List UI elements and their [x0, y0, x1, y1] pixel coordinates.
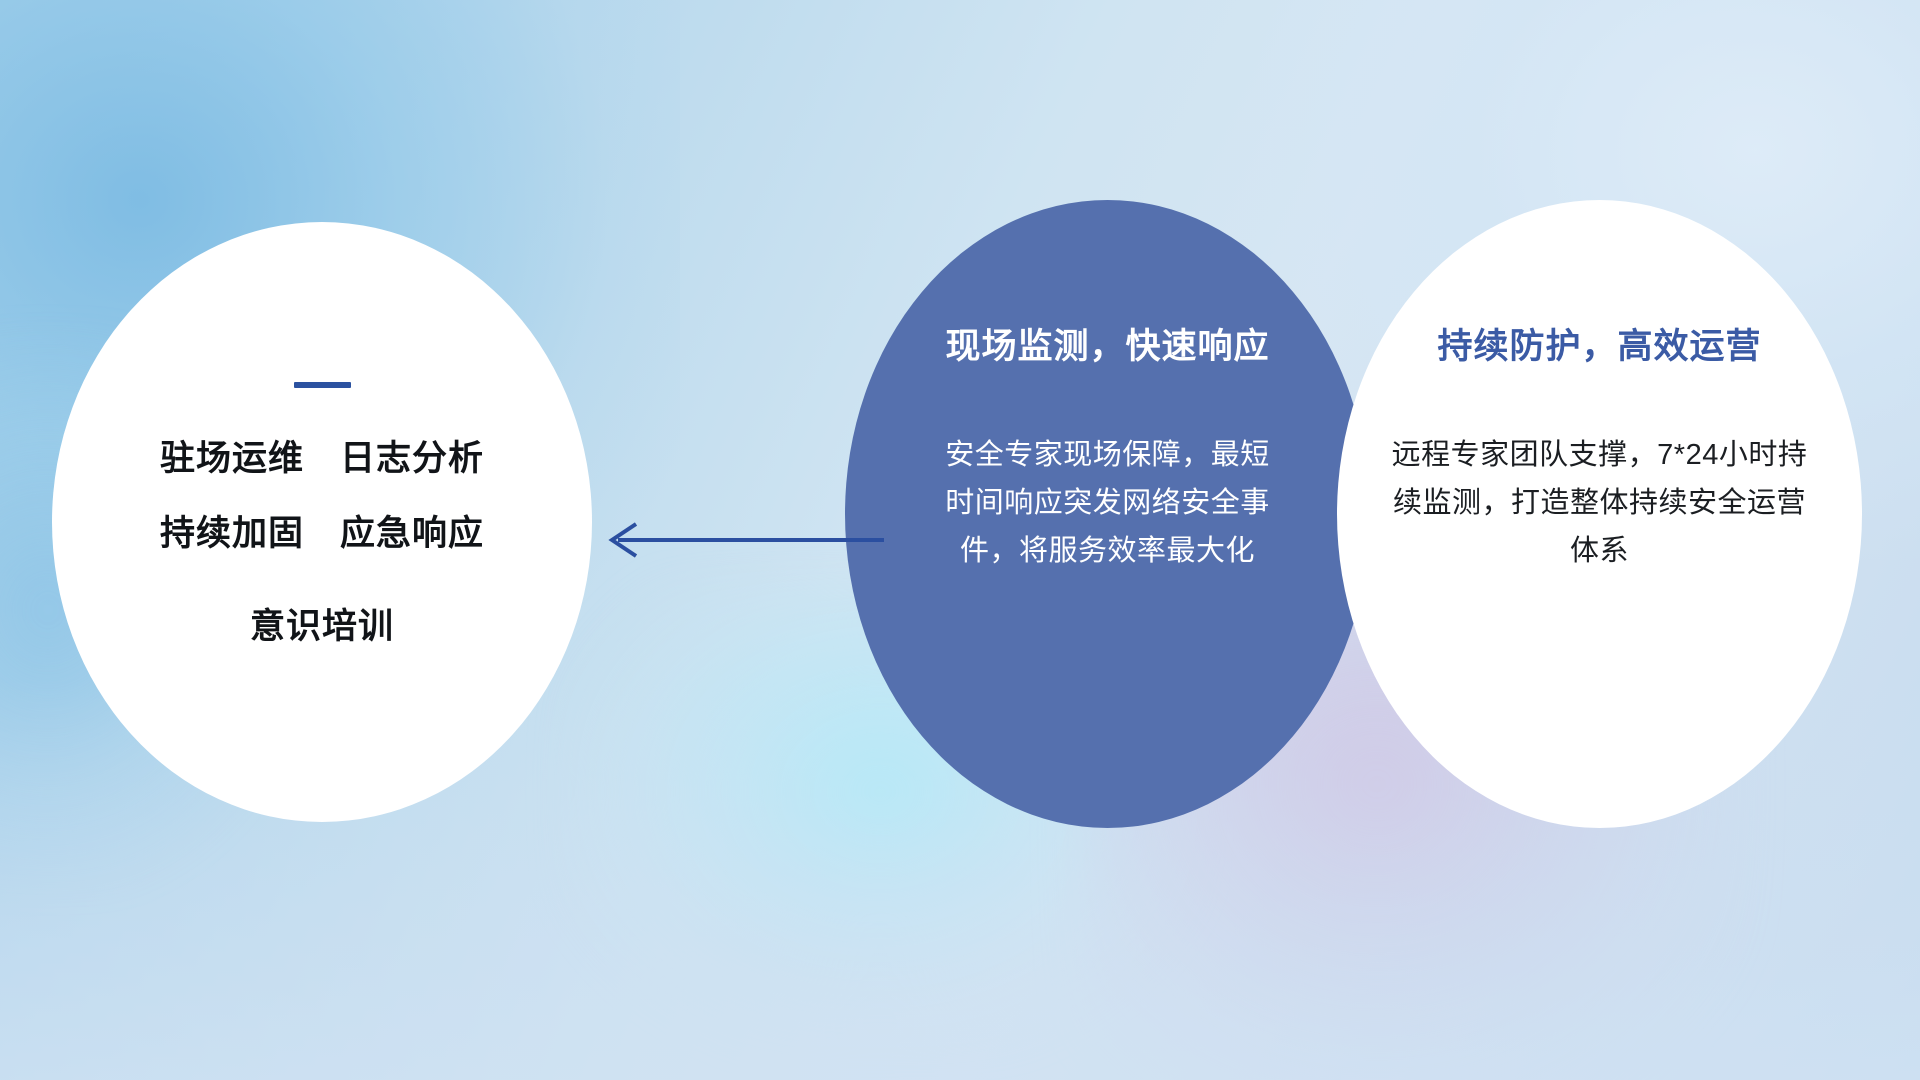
capability-tag: 应急响应 — [340, 505, 484, 556]
capability-tag: 驻场运维 — [160, 430, 304, 481]
capability-row: 持续加固 应急响应 — [160, 505, 484, 556]
slide-canvas: 驻场运维 日志分析 持续加固 应急响应 意识培训 现场监测，快速响应 安全专家现… — [0, 0, 1920, 1080]
flow-arrow-left-icon — [596, 514, 886, 566]
capability-tag: 意识培训 — [250, 598, 394, 649]
capability-tag: 持续加固 — [160, 505, 304, 556]
right-circle-content: 持续防护，高效运营 远程专家团队支撑，7*24小时持续监测，打造整体持续安全运营… — [1337, 200, 1862, 828]
left-circle-divider — [294, 382, 351, 388]
capability-row: 意识培训 — [250, 598, 394, 649]
middle-circle-title: 现场监测，快速响应 — [945, 318, 1269, 369]
capability-row: 驻场运维 日志分析 — [160, 430, 484, 481]
left-circle-content: 驻场运维 日志分析 持续加固 应急响应 意识培训 — [52, 222, 592, 822]
middle-circle-content: 现场监测，快速响应 安全专家现场保障，最短时间响应突发网络安全事件，将服务效率最… — [845, 200, 1370, 828]
capability-tag: 日志分析 — [340, 430, 484, 481]
right-circle-body: 远程专家团队支撑，7*24小时持续监测，打造整体持续安全运营体系 — [1390, 431, 1810, 575]
middle-circle-body: 安全专家现场保障，最短时间响应突发网络安全事件，将服务效率最大化 — [943, 431, 1273, 575]
right-circle-title: 持续防护，高效运营 — [1437, 318, 1761, 369]
